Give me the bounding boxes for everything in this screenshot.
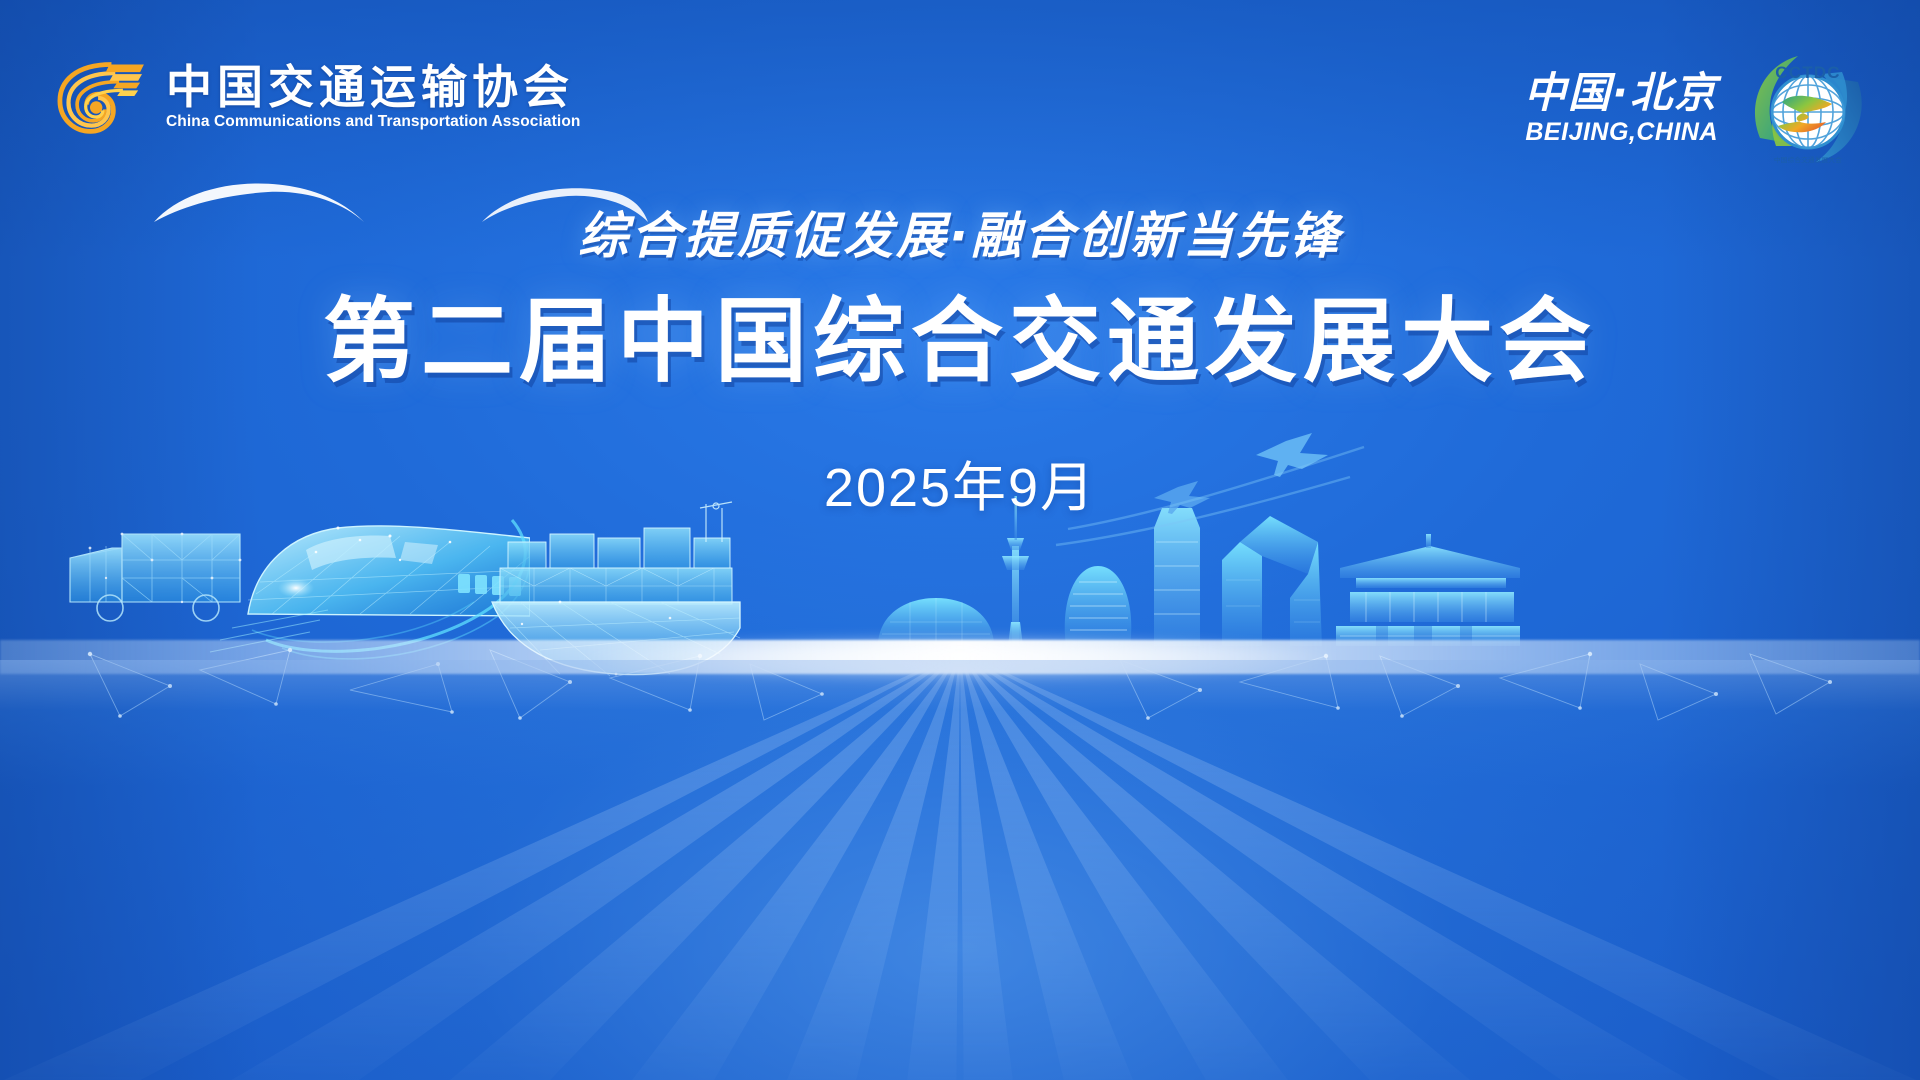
date-row: 2025年9月 xyxy=(0,443,1920,522)
slogan-row: 综合提质促发展·融合创新当先锋 xyxy=(0,206,1920,266)
conference-title: 第二届中国综合交通发展大会 xyxy=(323,288,1597,397)
cctdc-emblem-icon: CCTDC 中国综合交通发展大会 xyxy=(1742,42,1874,174)
host-city-en: BEIJING,CHINA xyxy=(1525,120,1718,145)
host-city-cn: 中国·北京 xyxy=(1524,71,1718,115)
association-name-cn: 中国交通运输协会 xyxy=(166,64,580,110)
ground-plane xyxy=(0,660,1920,1080)
emblem-acronym: CCTDC xyxy=(1775,63,1841,82)
association-branding: 中国交通运输协会 China Communications and Transp… xyxy=(52,55,580,139)
association-name-en: China Communications and Transportation … xyxy=(166,114,580,130)
host-city-text: 中国·北京 BEIJING,CHINA xyxy=(1524,71,1718,144)
poster-canvas: 中国交通运输协会 China Communications and Transp… xyxy=(0,0,1920,1080)
conference-date: 2025年9月 xyxy=(824,443,1096,522)
freight-truck-icon xyxy=(70,533,241,621)
conference-slogan: 综合提质促发展·融合创新当先锋 xyxy=(578,206,1342,266)
host-city-branding: 中国·北京 BEIJING,CHINA xyxy=(1524,42,1874,174)
container-stack xyxy=(500,528,732,604)
cta-spiral-logo-icon xyxy=(52,55,148,139)
emblem-caption: 中国综合交通发展大会 xyxy=(1774,155,1842,164)
main-title-row: 第二届中国综合交通发展大会 xyxy=(0,288,1920,397)
